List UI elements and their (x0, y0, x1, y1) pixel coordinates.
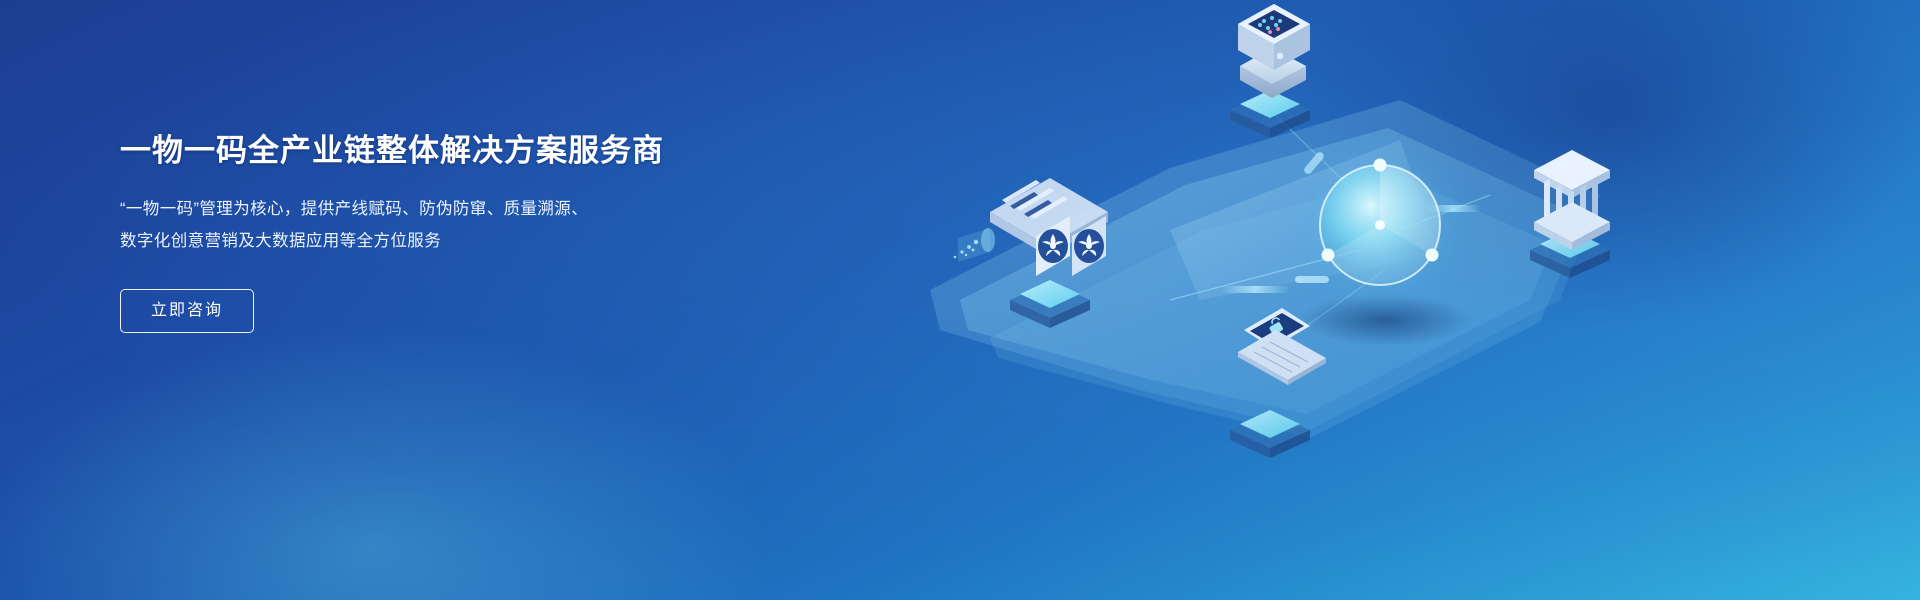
subtitle-line-1: “一物一码”管理为核心，提供产线赋码、防伪防窜、质量溯源、 (120, 193, 740, 225)
data-particles (954, 228, 995, 262)
subtitle-line-2: 数字化创意营销及大数据应用等全方位服务 (120, 225, 740, 257)
pos-terminal-icon (1230, 4, 1310, 138)
isometric-platform (930, 100, 1600, 438)
page-title: 一物一码全产业链整体解决方案服务商 (120, 132, 740, 171)
consult-now-button[interactable]: 立即咨询 (120, 289, 254, 333)
hero-illustration (840, 0, 1920, 600)
hero-copy: 一物一码全产业链整体解决方案服务商 “一物一码”管理为核心，提供产线赋码、防伪防… (120, 132, 740, 333)
network-sphere-node (1284, 129, 1476, 346)
hero-banner: 一物一码全产业链整体解决方案服务商 “一物一码”管理为核心，提供产线赋码、防伪防… (0, 0, 1920, 600)
